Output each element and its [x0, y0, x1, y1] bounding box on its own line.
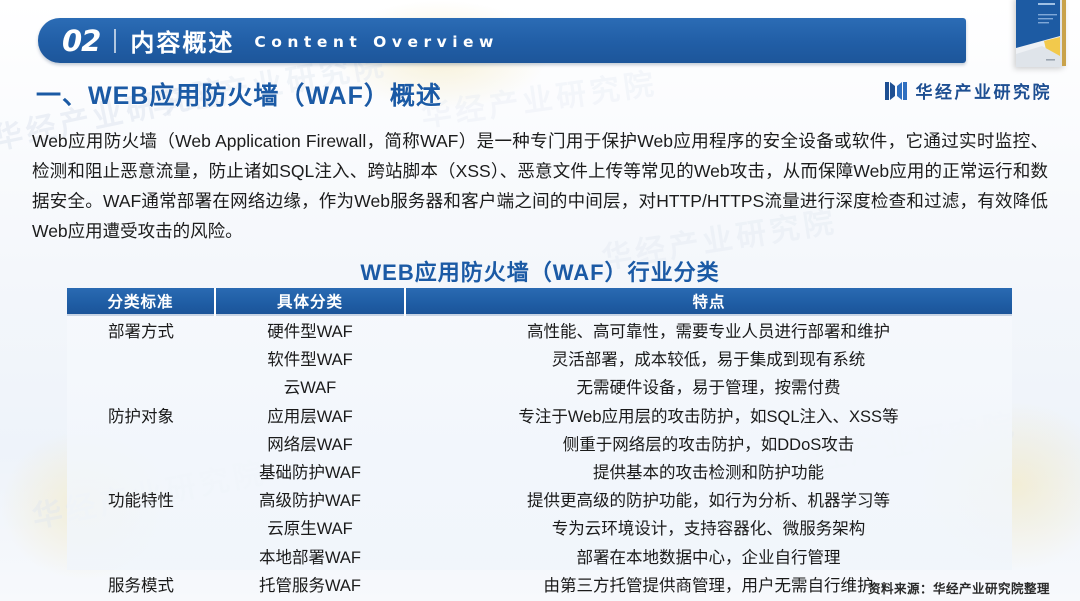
table-cell-type: 高级防护WAF — [215, 485, 405, 513]
table-cell-category — [67, 344, 215, 372]
section-title-cn: 内容概述 — [130, 23, 234, 58]
table-cell-feature: 灵活部署，成本较低，易于集成到现有系统 — [405, 344, 1012, 372]
banner-divider — [114, 29, 116, 53]
table-cell-type: 基础防护WAF — [215, 457, 405, 485]
table-cell-type: 网络层WAF — [215, 429, 405, 457]
table-cell-feature: 无需硬件设备，易于管理，按需付费 — [405, 372, 1012, 400]
table-cell-category — [67, 542, 215, 570]
table-row: 防护对象应用层WAF专注于Web应用层的攻击防护，如SQL注入、XSS等 — [67, 401, 1012, 429]
table-row: 本地部署WAF部署在本地数据中心，企业自行管理 — [67, 542, 1012, 570]
table-row: 部署方式硬件型WAF高性能、高可靠性，需要专业人员进行部署和维护 — [67, 315, 1012, 344]
table-cell-feature: 部署在本地数据中心，企业自行管理 — [405, 542, 1012, 570]
watermark-text: 华经产业研究院 — [418, 59, 660, 136]
table-cell-type: 云原生WAF — [215, 513, 405, 541]
table-row: 服务模式托管服务WAF由第三方托管提供商管理，用户无需自行维护 — [67, 570, 1012, 598]
table-cell-feature: 专为云环境设计，支持容器化、微服务架构 — [405, 513, 1012, 541]
table-cell-category: 服务模式 — [67, 570, 215, 598]
table-cell-type: 硬件型WAF — [215, 315, 405, 344]
table-cell-feature: 提供更高级的防护功能，如行为分析、机器学习等 — [405, 485, 1012, 513]
slide-canvas: 华经产业研究院 华经产业研究院 华经产业研究院 华经产业研究院 华经产业研究院 … — [0, 0, 1080, 601]
table-cell-category — [67, 457, 215, 485]
table-cell-type: 托管服务WAF — [215, 570, 405, 598]
brand-name: 华经产业研究院 — [916, 78, 1053, 103]
table-cell-feature: 提供基本的攻击检测和防护功能 — [405, 457, 1012, 485]
table-cell-category: 部署方式 — [67, 315, 215, 344]
table-cell-type: 软件型WAF — [215, 344, 405, 372]
table-header-cell-category: 分类标准 — [67, 288, 215, 315]
table-body: 部署方式硬件型WAF高性能、高可靠性，需要专业人员进行部署和维护软件型WAF灵活… — [67, 315, 1012, 601]
table-cell-category — [67, 513, 215, 541]
table-header-cell-type: 具体分类 — [215, 288, 405, 315]
section-banner: 02 内容概述 Content Overview — [38, 18, 966, 63]
table-cell-feature: 专注于Web应用层的攻击防护，如SQL注入、XSS等 — [405, 401, 1012, 429]
table-cell-type: 云WAF — [215, 372, 405, 400]
table-cell-type: 应用层WAF — [215, 401, 405, 429]
table-header-cell-feature: 特点 — [405, 288, 1012, 315]
table-cell-category: 防护对象 — [67, 401, 215, 429]
section-number: 02 — [62, 24, 100, 58]
waf-classification-table: 分类标准 具体分类 特点 部署方式硬件型WAF高性能、高可靠性，需要专业人员进行… — [67, 288, 1012, 601]
table-cell-category — [67, 372, 215, 400]
table-row: 基础防护WAF提供基本的攻击检测和防护功能 — [67, 457, 1012, 485]
double-arrow-mark-icon — [885, 81, 907, 101]
section-title-en: Content Overview — [254, 33, 499, 51]
table-header-row: 分类标准 具体分类 特点 — [67, 288, 1012, 315]
page-title: 一、WEB应用防火墙（WAF）概述 — [36, 76, 442, 112]
table-cell-feature: 侧重于网络层的攻击防护，如DDoS攻击 — [405, 429, 1012, 457]
table-cell-feature: 高性能、高可靠性，需要专业人员进行部署和维护 — [405, 315, 1012, 344]
body-paragraph: Web应用防火墙（Web Application Firewall，简称WAF）… — [32, 126, 1048, 246]
table-cell-category — [67, 429, 215, 457]
table-row: 软件型WAF灵活部署，成本较低，易于集成到现有系统 — [67, 344, 1012, 372]
table-row: 功能特性高级防护WAF提供更高级的防护功能，如行为分析、机器学习等 — [67, 485, 1012, 513]
table-row: 云WAF无需硬件设备，易于管理，按需付费 — [67, 372, 1012, 400]
table-title: WEB应用防火墙（WAF）行业分类 — [0, 255, 1080, 287]
table-cell-category: 功能特性 — [67, 485, 215, 513]
table-cell-type: 本地部署WAF — [215, 542, 405, 570]
table-row: 云原生WAF专为云环境设计，支持容器化、微服务架构 — [67, 513, 1012, 541]
table-cell-feature: 由第三方托管提供商管理，用户无需自行维护 — [405, 570, 1012, 598]
report-book-cover-icon — [1010, 0, 1068, 68]
table-row: 网络层WAF侧重于网络层的攻击防护，如DDoS攻击 — [67, 429, 1012, 457]
brand-logo: 华经产业研究院 — [885, 78, 1053, 103]
